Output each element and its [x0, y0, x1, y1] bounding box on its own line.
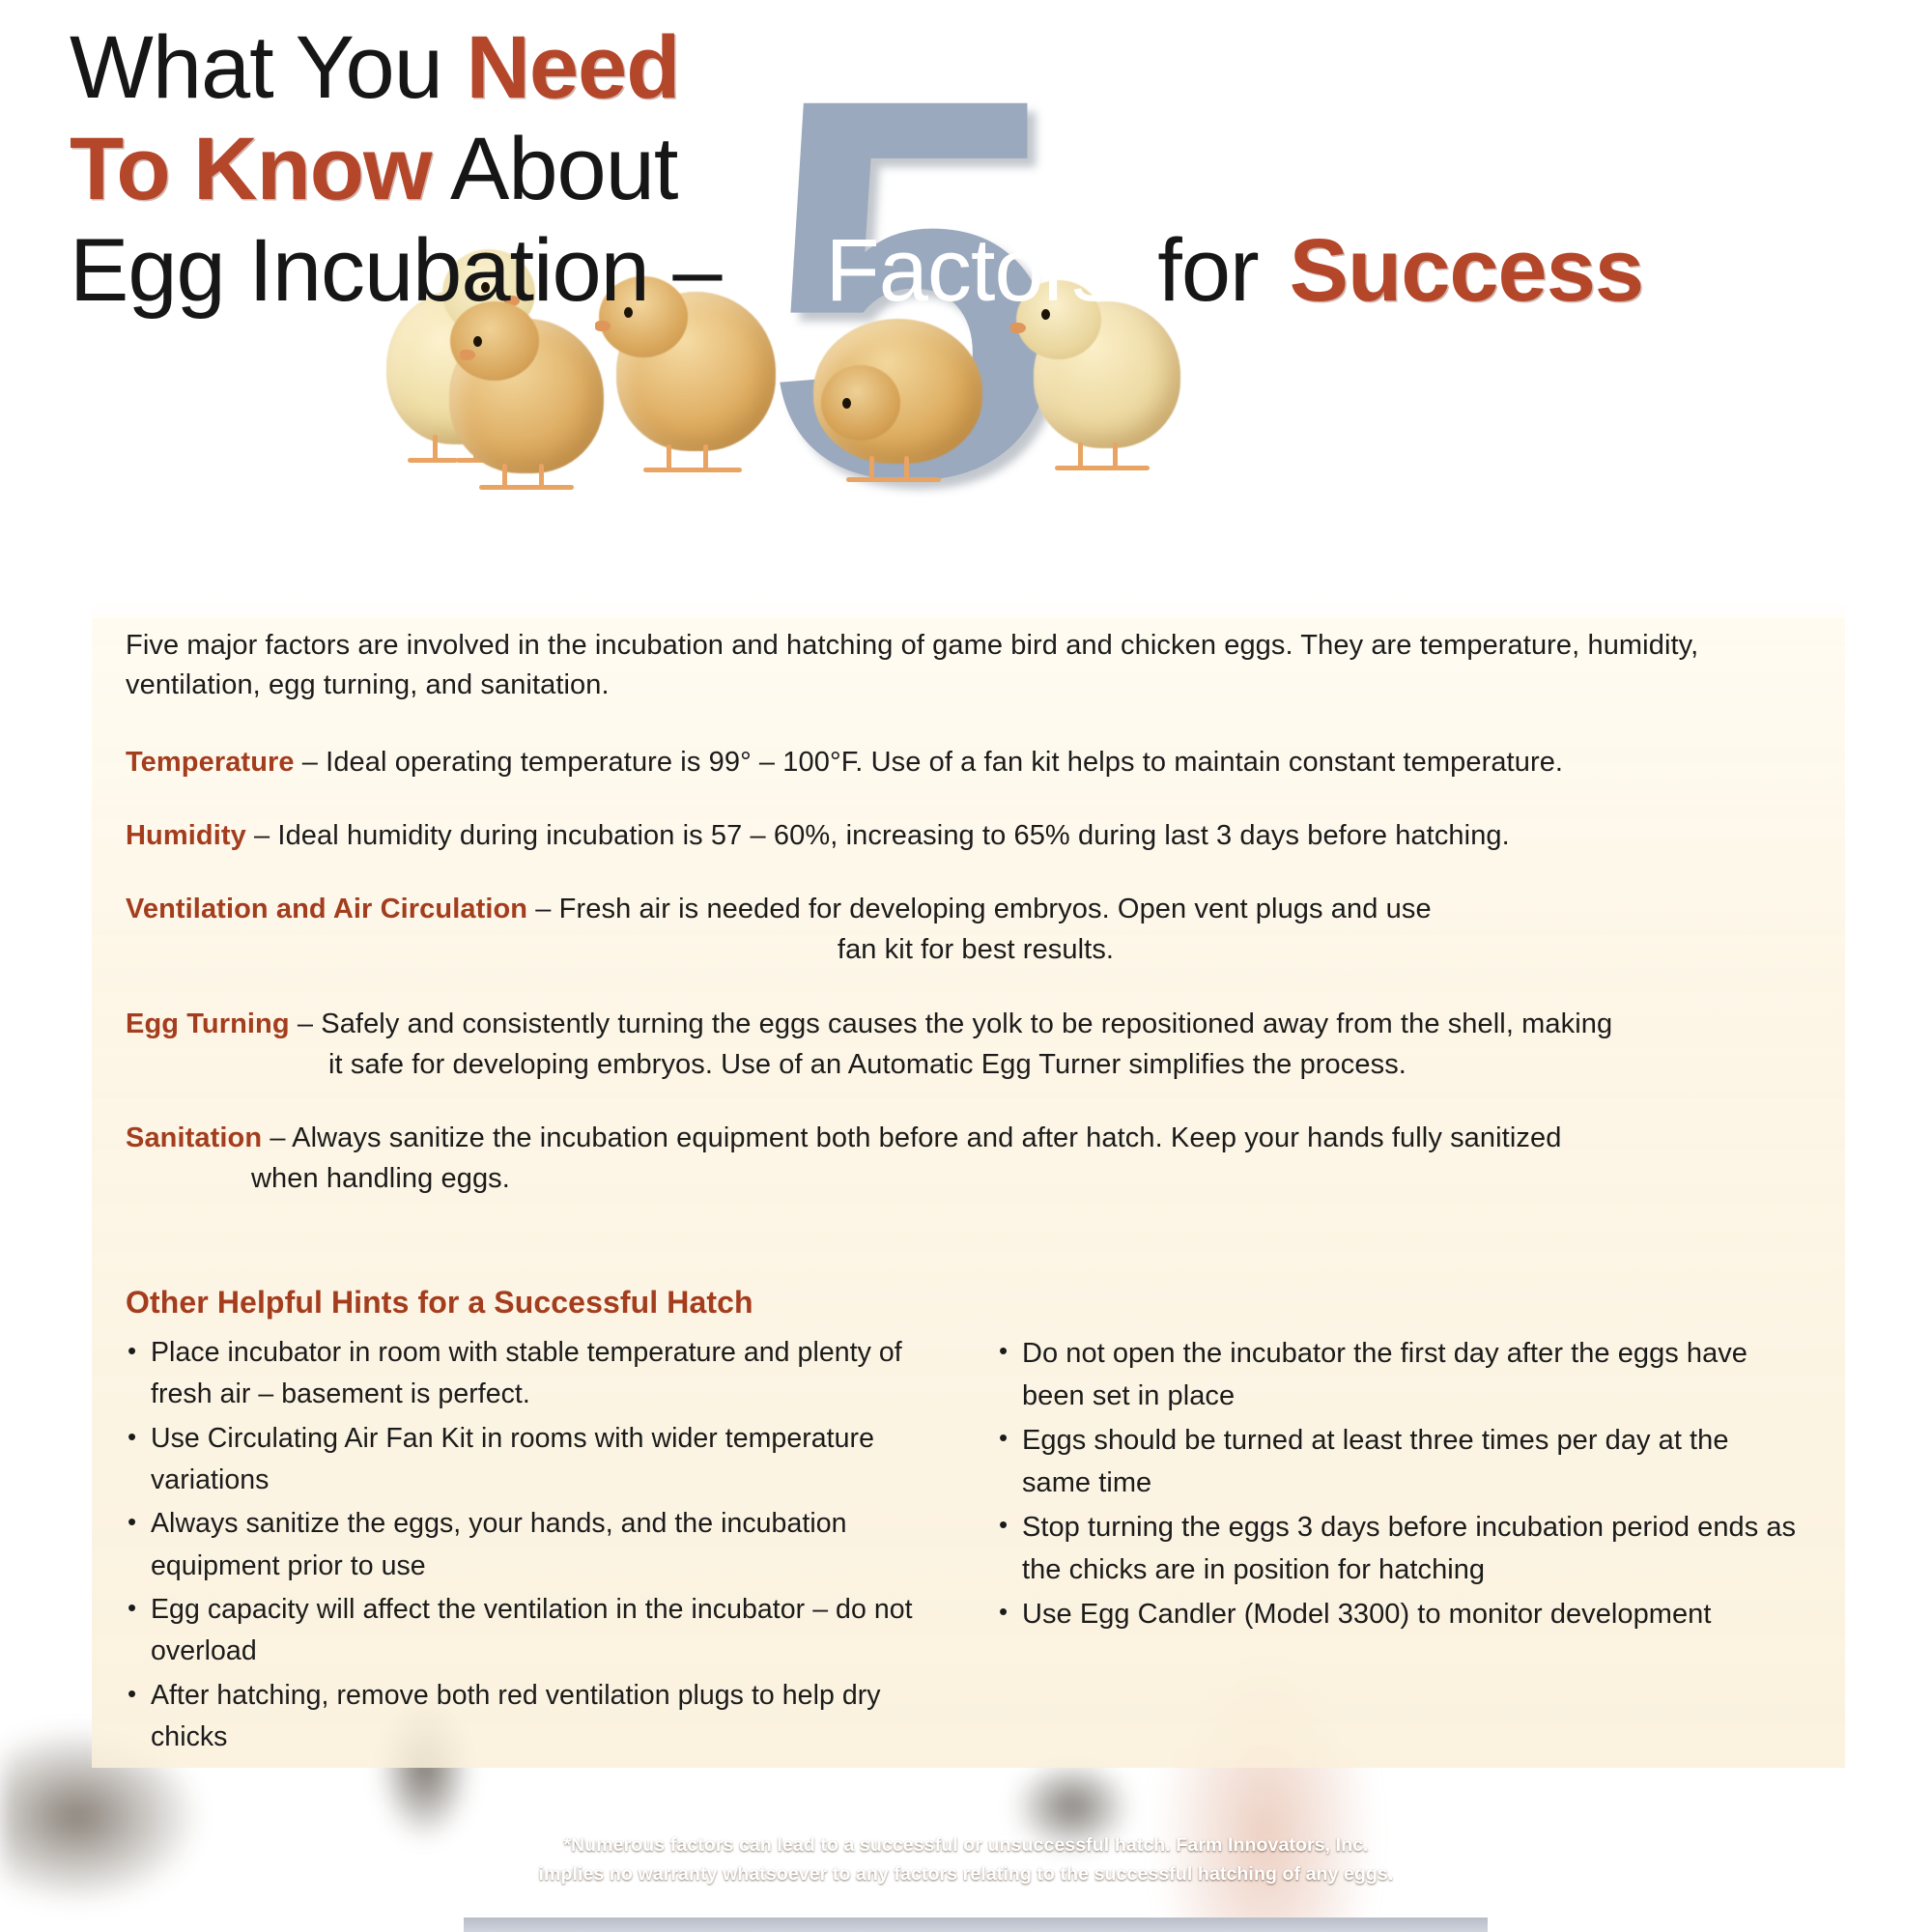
- hints-right-list: Do not open the incubator the first day …: [997, 1332, 1799, 1636]
- title-line-2: To Know About: [70, 119, 1905, 220]
- title-segment-to-know: To Know: [70, 120, 432, 218]
- hints-left-column: Place incubator in room with stable temp…: [126, 1332, 927, 1760]
- factors-section: Five major factors are involved in the i…: [126, 626, 1826, 1232]
- list-item: Place incubator in room with stable temp…: [126, 1332, 927, 1416]
- bottom-bar: [464, 1918, 1488, 1932]
- factor-body-egg-turning: Safely and consistently turning the eggs…: [321, 1009, 1612, 1039]
- list-item: Use Egg Candler (Model 3300) to monitor …: [997, 1593, 1799, 1635]
- list-item: After hatching, remove both red ventilat…: [126, 1675, 927, 1759]
- list-item: Eggs should be turned at least three tim…: [997, 1419, 1799, 1504]
- title-line-3: Egg Incubation – Factors for Success: [70, 220, 1905, 322]
- factor-dash-3: –: [290, 1009, 322, 1039]
- list-item: Stop turning the eggs 3 days before incu…: [997, 1506, 1799, 1591]
- footer-line-1: *Numerous factors can lead to a successf…: [0, 1831, 1932, 1860]
- factor-cont-egg-turning: it safe for developing embryos. Use of a…: [126, 1044, 1826, 1085]
- list-item: Use Circulating Air Fan Kit in rooms wit…: [126, 1418, 927, 1502]
- hints-left-list: Place incubator in room with stable temp…: [126, 1332, 927, 1758]
- factor-cont-sanitation: when handling eggs.: [126, 1158, 1826, 1199]
- hints-title: Other Helpful Hints for a Successful Hat…: [126, 1285, 1826, 1321]
- title-line-1: What You Need: [70, 17, 1905, 119]
- title-segment-need: Need: [466, 18, 679, 117]
- factor-name-ventilation: Ventilation and Air Circulation: [126, 894, 527, 924]
- hints-columns: Place incubator in room with stable temp…: [126, 1332, 1826, 1760]
- header-banner: 5 What You Need To Know About Egg Incuba…: [0, 0, 1932, 599]
- title-segment-about: About: [432, 120, 678, 218]
- list-item: Egg capacity will affect the ventilation…: [126, 1589, 927, 1673]
- factor-name-egg-turning: Egg Turning: [126, 1009, 290, 1039]
- title-segment-for: for: [1157, 220, 1258, 322]
- factor-egg-turning: Egg Turning – Safely and consistently tu…: [126, 1004, 1826, 1085]
- list-item: Do not open the incubator the first day …: [997, 1332, 1799, 1417]
- footer-line-2: implies no warranty whatsoever to any fa…: [0, 1860, 1932, 1889]
- list-item: Always sanitize the eggs, your hands, an…: [126, 1503, 927, 1587]
- factor-body-humidity: Ideal humidity during incubation is 57 –…: [277, 820, 1509, 851]
- factor-body-ventilation: Fresh air is needed for developing embry…: [559, 894, 1432, 924]
- page-title: What You Need To Know About Egg Incubati…: [70, 17, 1905, 322]
- factor-name-temperature: Temperature: [126, 747, 295, 778]
- factor-cont-ventilation: fan kit for best results.: [126, 929, 1826, 970]
- factor-dash-4: –: [262, 1122, 292, 1153]
- title-segment-factors: Factors: [826, 220, 1116, 322]
- factor-sanitation: Sanitation – Always sanitize the incubat…: [126, 1118, 1826, 1199]
- factor-body-temperature: Ideal operating temperature is 99° – 100…: [326, 747, 1563, 778]
- factor-dash-1: –: [246, 820, 278, 851]
- title-segment-what-you: What You: [70, 18, 466, 117]
- intro-paragraph: Five major factors are involved in the i…: [126, 626, 1826, 705]
- factor-name-humidity: Humidity: [126, 820, 246, 851]
- title-segment-egg-incubation: Egg Incubation –: [70, 220, 722, 322]
- factor-body-sanitation: Always sanitize the incubation equipment…: [292, 1122, 1561, 1153]
- factor-humidity: Humidity – Ideal humidity during incubat…: [126, 815, 1826, 856]
- factor-dash-0: –: [295, 747, 327, 778]
- factor-ventilation: Ventilation and Air Circulation – Fresh …: [126, 889, 1826, 970]
- title-segment-success: Success: [1290, 220, 1643, 322]
- factor-name-sanitation: Sanitation: [126, 1122, 262, 1153]
- footer-disclaimer: *Numerous factors can lead to a successf…: [0, 1831, 1932, 1889]
- factor-dash-2: –: [527, 894, 559, 924]
- factor-temperature: Temperature – Ideal operating temperatur…: [126, 742, 1826, 782]
- hints-section: Other Helpful Hints for a Successful Hat…: [126, 1285, 1826, 1760]
- hints-right-column: Do not open the incubator the first day …: [997, 1332, 1799, 1760]
